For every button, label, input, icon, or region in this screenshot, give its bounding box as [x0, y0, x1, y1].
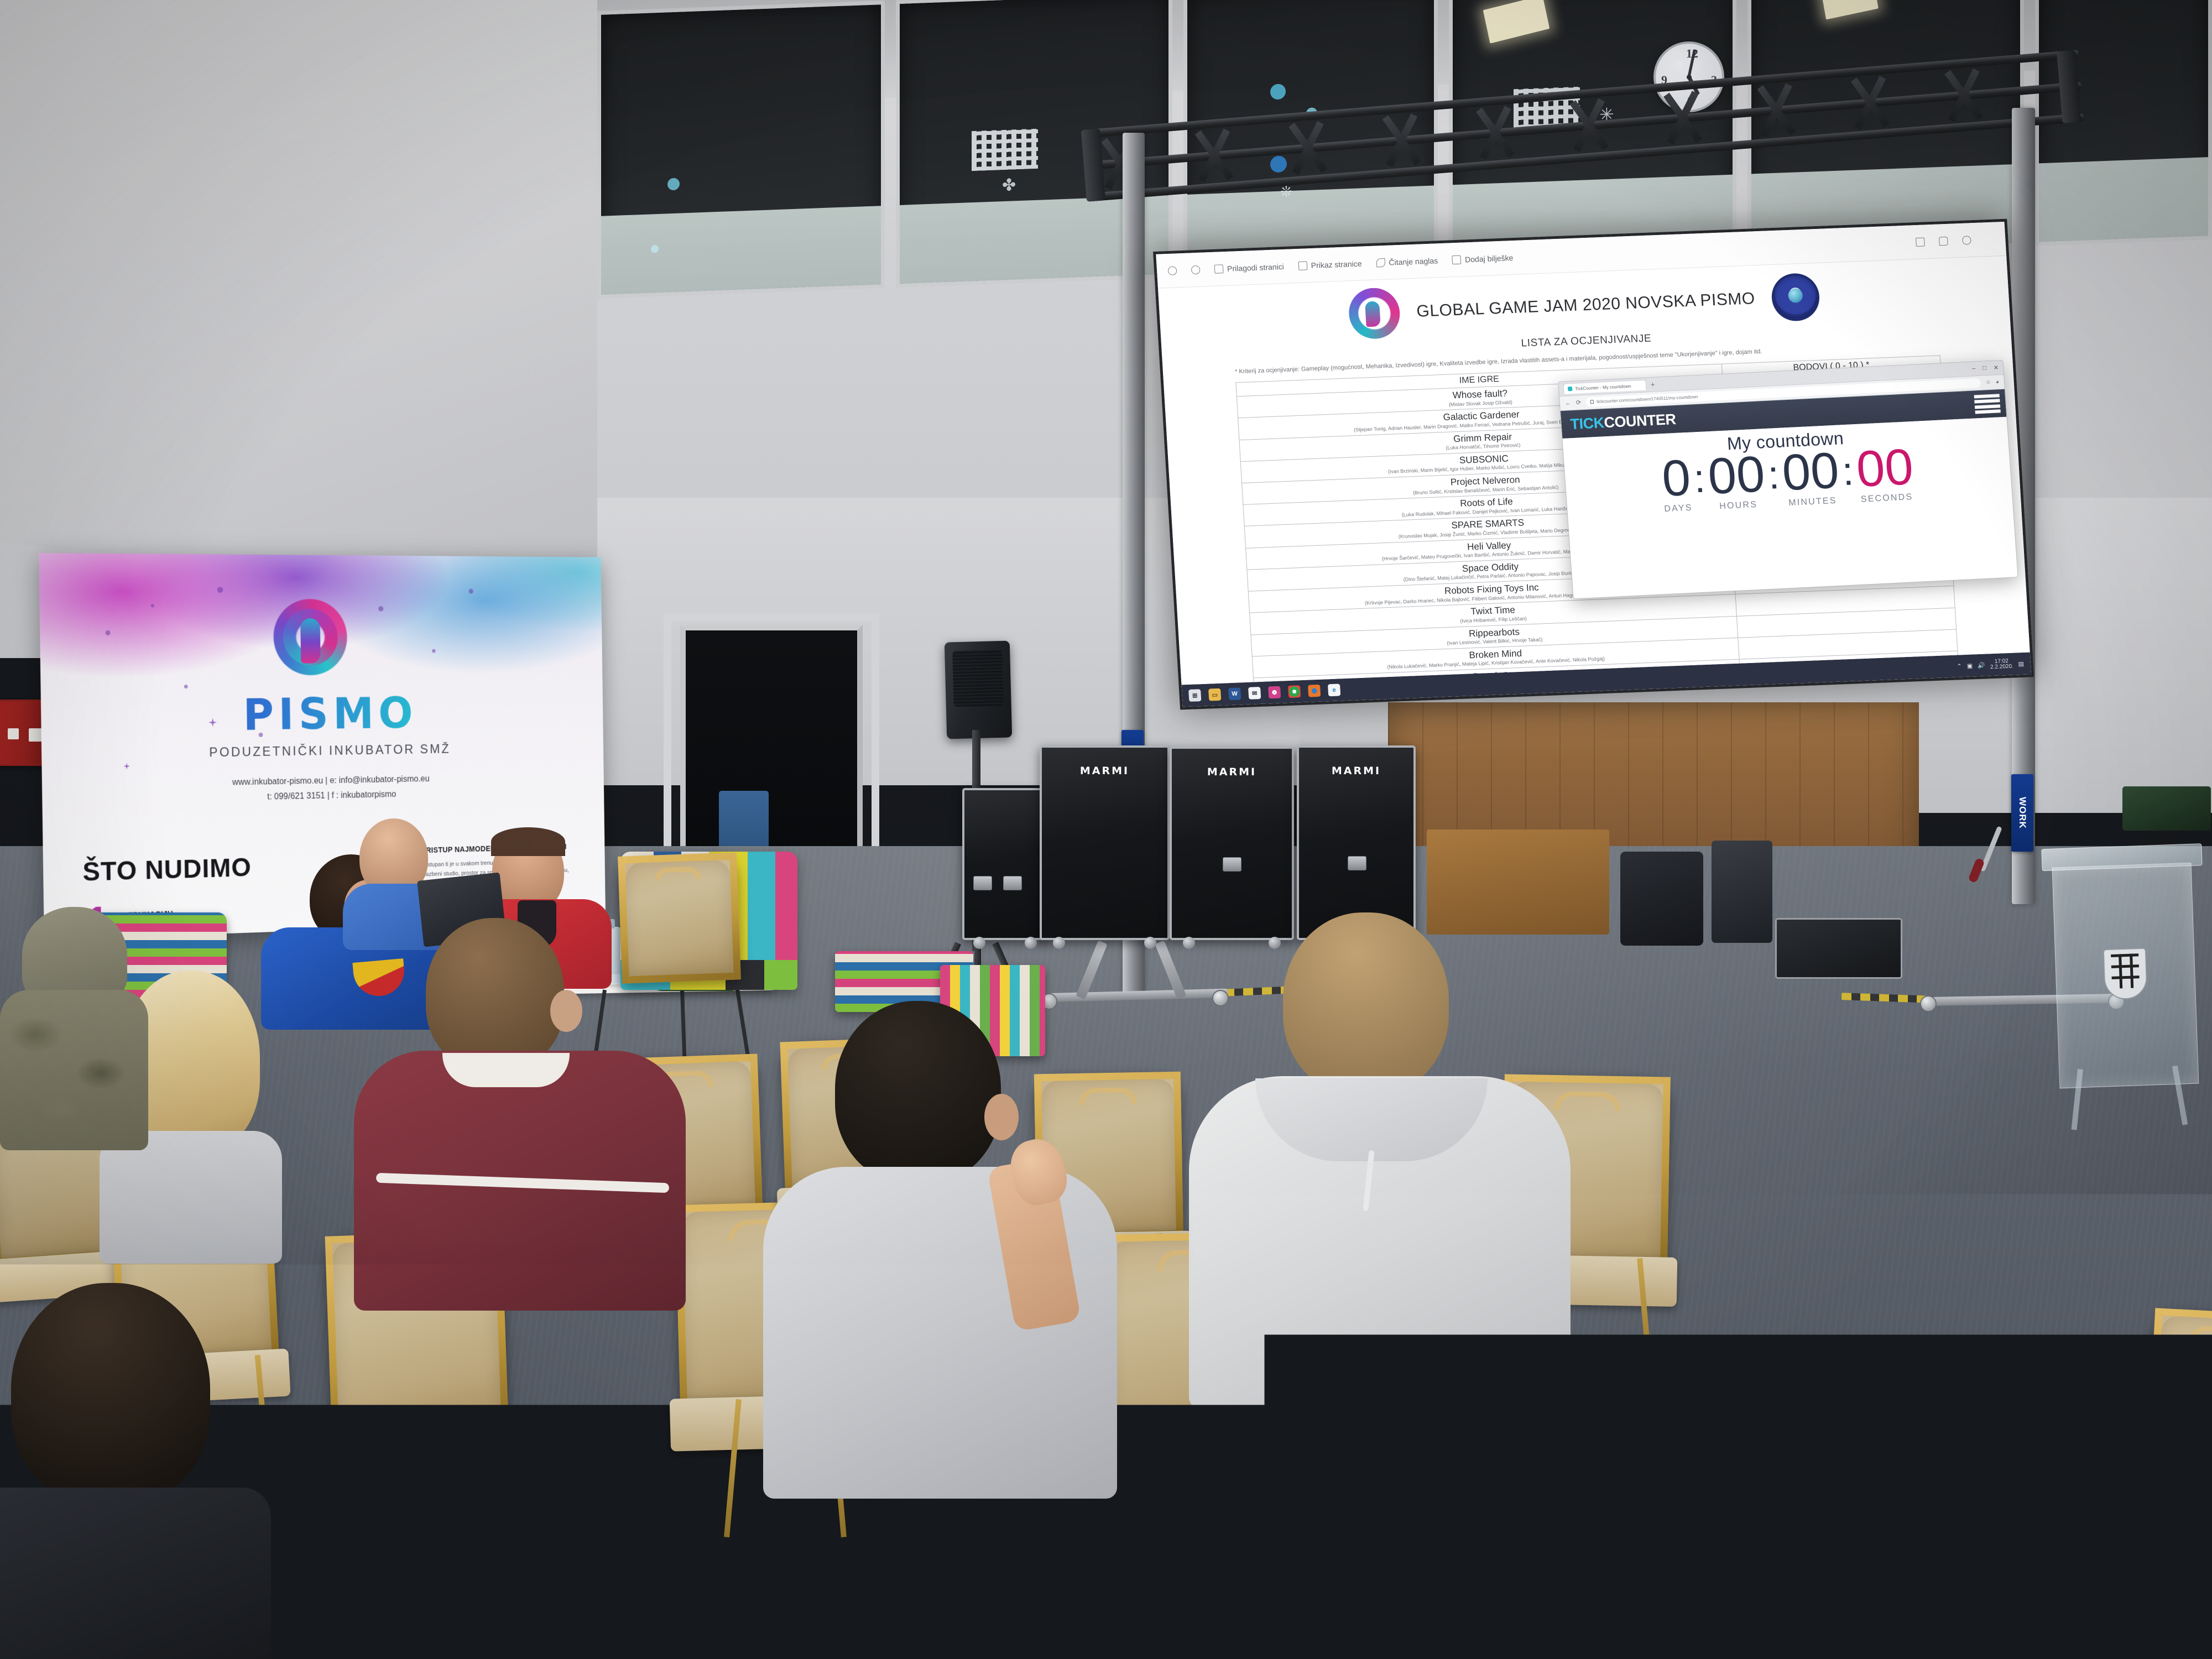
countdown-separator: : [1840, 446, 1855, 498]
toolbar-label-page-view: Prikaz stranice [1311, 259, 1362, 269]
close-icon[interactable] [1985, 234, 1995, 244]
pismo-offer-heading: ŠTO NUDIMO [82, 853, 252, 888]
toolbar-item-read-aloud[interactable]: Čitanje naglas [1376, 256, 1438, 267]
page-view-icon [1298, 261, 1307, 270]
mail-icon[interactable]: ✉ [1248, 687, 1261, 700]
countdown-separator: : [1766, 450, 1781, 502]
start-icon[interactable]: ⊞ [1188, 689, 1201, 702]
global-game-jam-badge-icon [1770, 273, 1820, 322]
tickcounter-logo-counter: COUNTER [1603, 411, 1676, 431]
torso [0, 990, 148, 1150]
flight-case: MARMI [1297, 745, 1416, 940]
minimize-button[interactable]: – [1971, 366, 1975, 373]
countdown-value-days: 0 [1660, 454, 1692, 504]
window-controls[interactable]: – □ ✕ [1971, 364, 1999, 372]
countdown-digits: 0 DAYS : 00 HOURS : 00 MINUTES [1660, 443, 1915, 514]
projected-desktop: Prilagodi stranici Prikaz stranice Čitan… [1156, 222, 2031, 707]
taskbar-date: 2.2.2020. [1990, 664, 2013, 671]
person-camo-jacket [0, 907, 149, 1145]
person-grey-hoodie [1189, 912, 1576, 1410]
head [1349, 1344, 1659, 1659]
tickcounter-browser-window[interactable]: TickCounter - My countdown + – □ ✕ ← ⟳ t… [1558, 360, 2018, 599]
pa-speaker [945, 640, 1013, 739]
torso [763, 1167, 1117, 1499]
taskbar-clock[interactable]: 17:02 2.2.2020. [1990, 658, 2013, 671]
chair[interactable] [2146, 1308, 2212, 1496]
ear [984, 1094, 1019, 1140]
close-button[interactable]: ✕ [1993, 364, 1999, 371]
head [11, 1283, 210, 1504]
stage-monitor-chair [1620, 852, 1703, 946]
toolbar-item-page-fit[interactable]: Prilagodi stranici [1214, 262, 1285, 273]
photos-icon[interactable]: ❁ [1268, 686, 1281, 699]
reload-icon[interactable]: ⟳ [1575, 399, 1581, 406]
countdown-value-seconds: 00 [1855, 443, 1914, 494]
system-tray[interactable]: ⌃ ▣ 🔊 17:02 2.2.2020. ▤ [1957, 658, 2025, 672]
browser-tab-label: TickCounter - My countdown [1575, 383, 1631, 391]
flight-case: MARMI [1170, 747, 1294, 940]
countdown-value-hours: 00 [1707, 450, 1766, 501]
edge-icon[interactable]: e [1328, 684, 1340, 696]
add-note-icon [1452, 255, 1462, 264]
flight-case: MARMI [1040, 745, 1170, 940]
print-icon[interactable] [1916, 237, 1925, 247]
url-text: tickcounter.com/countdown/1740511/my-cou… [1597, 394, 1698, 404]
countdown-label-days: DAYS [1664, 503, 1693, 514]
read-aloud-icon [1376, 258, 1385, 267]
head [835, 1001, 1001, 1183]
person-foreground-dark-hair [1283, 1344, 1703, 1659]
person-grey-tshirt-clapping [763, 1001, 1123, 1499]
flight-case [962, 788, 1048, 940]
undo-icon[interactable] [1168, 266, 1177, 275]
folder-icon[interactable]: ▭ [1208, 688, 1221, 701]
countdown-unit-minutes: 00 MINUTES [1781, 447, 1841, 509]
firefox-icon[interactable] [1308, 685, 1321, 697]
person-foreground-left [0, 1283, 271, 1659]
show-hidden-icons[interactable]: ⌃ [1957, 662, 1962, 670]
countdown-unit-hours: 00 HOURS [1707, 450, 1767, 512]
person-maroon-polo [354, 918, 691, 1305]
countdown-body: My countdown 0 DAYS : 00 HOURS : [1562, 417, 2017, 598]
stage-side-chair [1712, 841, 1772, 943]
back-icon[interactable]: ← [1564, 400, 1571, 407]
lectern-face [2052, 863, 2199, 1089]
table-on-stage [1427, 830, 1609, 935]
pismo-logo-icon [1348, 287, 1401, 340]
lectern-equipment [2122, 786, 2211, 831]
countdown-value-minutes: 00 [1781, 447, 1840, 498]
zoom-icon[interactable] [1191, 265, 1201, 274]
new-tab-button[interactable]: + [1650, 380, 1655, 389]
toolbar-label-page-fit: Prilagodi stranici [1227, 262, 1285, 273]
flight-case-brand: MARMI [1042, 765, 1167, 777]
projection-screen: Prilagodi stranici Prikaz stranice Čitan… [1153, 219, 2034, 710]
toolbar-label-add-note: Dodaj bilješke [1465, 253, 1514, 264]
head [426, 918, 564, 1070]
page-fit-icon [1214, 264, 1224, 274]
maximize-button[interactable]: □ [1983, 365, 1987, 372]
countdown-label-hours: HOURS [1719, 500, 1758, 512]
work-brand-label: WORK [2011, 774, 2033, 852]
acrylic-lectern [2041, 843, 2211, 1125]
tickcounter-logo: TICKCOUNTER [1569, 411, 1676, 433]
pismo-wordmark: PISMO [41, 687, 603, 743]
comment-icon[interactable] [1939, 236, 1948, 246]
chrome-icon[interactable] [1288, 685, 1301, 698]
conference-hall-scene: ✤ ❊ ✳ 12 3 6 9 [0, 0, 2212, 1659]
countdown-unit-days: 0 DAYS [1660, 454, 1693, 515]
coat-of-arms-crest [2103, 948, 2148, 1000]
countdown-label-minutes: MINUTES [1788, 496, 1837, 508]
countdown-label-seconds: SECONDS [1860, 493, 1913, 505]
polo-collar [442, 1053, 570, 1087]
countdown-unit-seconds: 00 SECONDS [1855, 443, 1916, 505]
countdown-separator: : [1692, 453, 1707, 505]
browser-tab[interactable]: TickCounter - My countdown [1563, 380, 1646, 394]
head [1283, 912, 1449, 1095]
share-icon[interactable] [1962, 236, 1971, 245]
flight-case-brand: MARMI [1172, 766, 1292, 778]
notifications-icon[interactable]: ▤ [2018, 660, 2024, 667]
lock-icon [1590, 400, 1594, 404]
left-wall-panel [0, 0, 597, 608]
network-icon[interactable]: ▣ [1966, 662, 1973, 669]
pismo-logo-icon [271, 597, 349, 677]
road-case-small [1775, 918, 1902, 979]
tickcounter-logo-tick: TICK [1569, 414, 1604, 432]
hamburger-menu-icon[interactable] [1974, 394, 2000, 414]
tab-favicon-icon [1568, 387, 1573, 391]
document-title: GLOBAL GAME JAM 2020 NOVSKA PISMO [1416, 289, 1756, 321]
toolbar-label-read-aloud: Čitanje naglas [1389, 256, 1438, 267]
toolbar-item-add-note[interactable]: Dodaj bilješke [1452, 253, 1514, 264]
torso [0, 1488, 271, 1659]
pismo-tagline: PODUZETNIČKI INKUBATOR SMŽ [41, 740, 603, 763]
word-icon[interactable]: W [1228, 687, 1241, 700]
ear [550, 990, 582, 1032]
torso [100, 1131, 282, 1264]
lift-caster [1920, 995, 1937, 1012]
volume-icon[interactable]: 🔊 [1978, 661, 1985, 669]
toolbar-item-page-view[interactable]: Prikaz stranice [1298, 259, 1362, 270]
clock-center-pin [1687, 75, 1692, 80]
pismo-contact: www.inkubator-pismo.eu | e: info@inkubat… [42, 769, 604, 810]
window-pane [597, 1, 885, 299]
profile-avatar-icon[interactable]: ◕ [1995, 379, 1999, 385]
flight-case-brand: MARMI [1299, 765, 1413, 777]
bookmark-star-icon[interactable]: ☆ [1985, 379, 1991, 385]
